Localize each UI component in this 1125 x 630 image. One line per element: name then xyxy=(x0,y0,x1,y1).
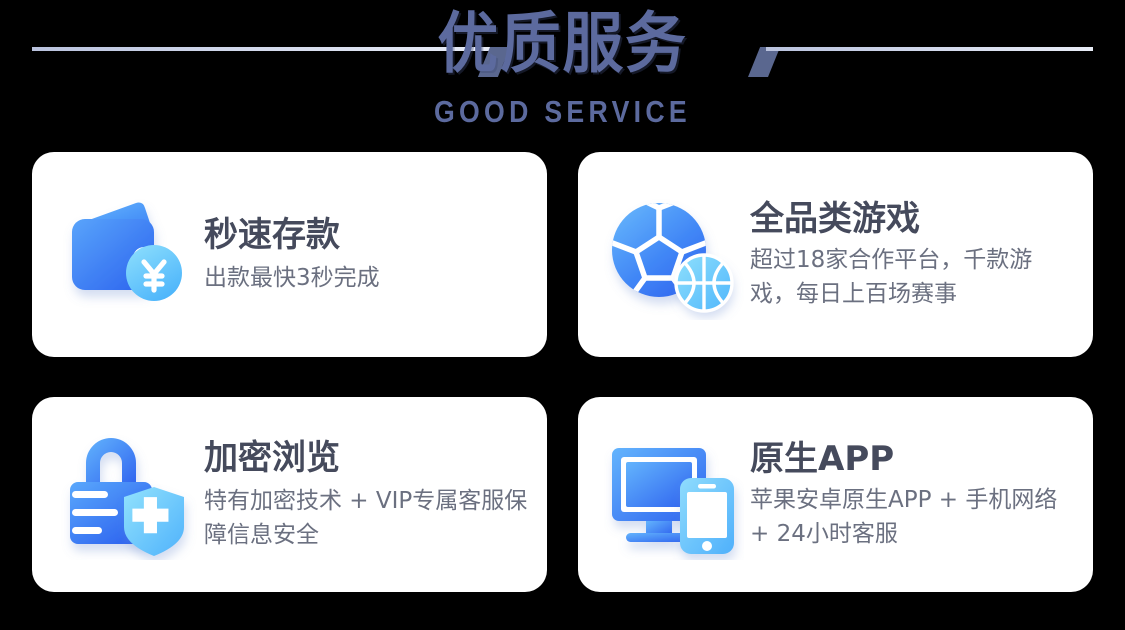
service-card-deposit[interactable]: 秒速存款 出款最快3秒完成 xyxy=(32,152,547,357)
service-card-description: 出款最快3秒完成 xyxy=(204,261,529,295)
service-card-description: 超过18家合作平台，千款游戏，每日上百场赛事 xyxy=(750,243,1075,311)
service-card-grid: 秒速存款 出款最快3秒完成 xyxy=(32,152,1093,592)
service-card-description: 特有加密技术 + VIP专属客服保障信息安全 xyxy=(204,484,529,552)
page-subtitle: GOOD SERVICE xyxy=(79,94,1047,130)
service-card-games[interactable]: 全品类游戏 超过18家合作平台，千款游戏，每日上百场赛事 xyxy=(578,152,1093,357)
wallet-yen-icon xyxy=(58,190,198,320)
service-card-native-app[interactable]: 原生APP 苹果安卓原生APP + 手机网络 + 24小时客服 xyxy=(578,397,1093,592)
service-card-text: 全品类游戏 超过18家合作平台，千款游戏，每日上百场赛事 xyxy=(744,199,1075,311)
service-card-text: 原生APP 苹果安卓原生APP + 手机网络 + 24小时客服 xyxy=(744,439,1075,551)
service-card-title: 原生APP xyxy=(750,439,1075,479)
service-card-title: 加密浏览 xyxy=(204,438,529,478)
service-card-title: 全品类游戏 xyxy=(750,199,1075,239)
service-card-title: 秒速存款 xyxy=(204,215,529,255)
service-card-encryption[interactable]: 加密浏览 特有加密技术 + VIP专属客服保障信息安全 xyxy=(32,397,547,592)
monitor-phone-icon xyxy=(604,430,744,560)
service-card-description: 苹果安卓原生APP + 手机网络 + 24小时客服 xyxy=(750,483,1075,551)
service-card-text: 加密浏览 特有加密技术 + VIP专属客服保障信息安全 xyxy=(198,438,529,552)
service-card-text: 秒速存款 出款最快3秒完成 xyxy=(198,215,529,295)
lock-shield-icon xyxy=(58,430,198,560)
page-header: 优质服务 GOOD SERVICE xyxy=(0,0,1125,148)
page-title: 优质服务 xyxy=(45,4,1080,84)
soccer-basketball-icon xyxy=(604,190,744,320)
